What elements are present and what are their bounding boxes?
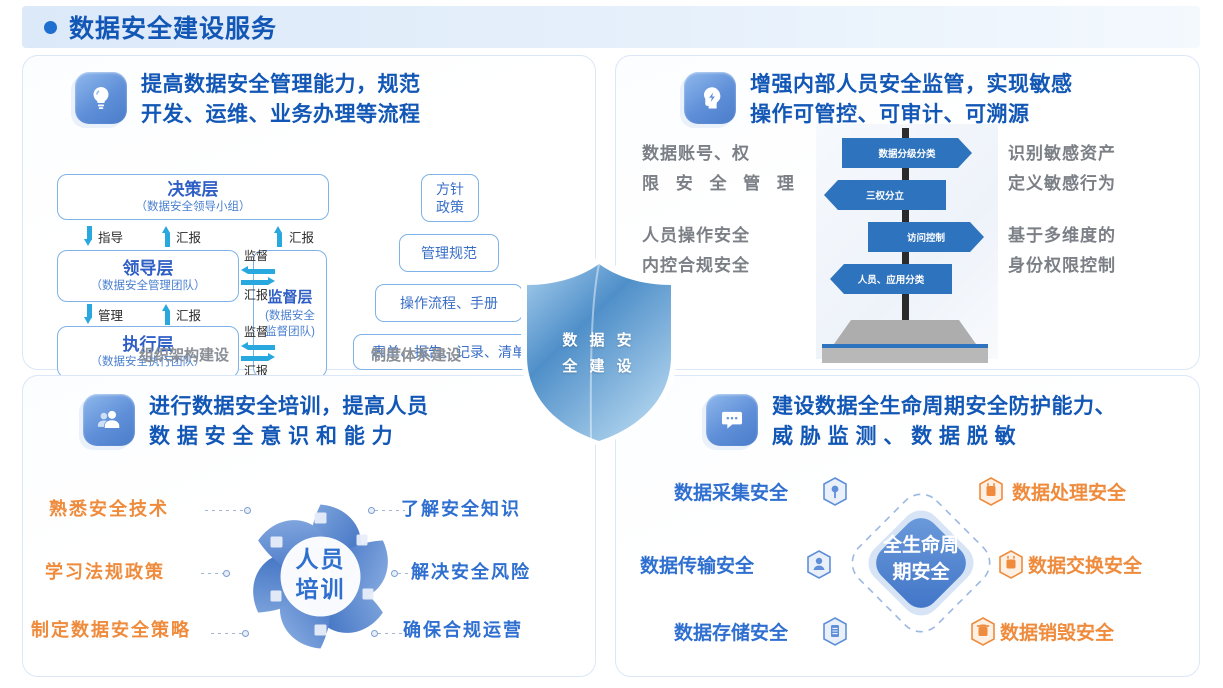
arrow-supervise-1-icon xyxy=(241,267,275,276)
shield-label: 数 据 安 全 建 设 xyxy=(508,328,690,380)
signpost-icon: 数据分级分类 三权分立 访问控制 人员、应用分类 xyxy=(816,124,998,359)
arrow-label-supervise-2: 监督 xyxy=(244,323,268,340)
tr-left-text-1-line2: 限 安 全 管 理 xyxy=(642,169,800,199)
training-item-left-3: 制定数据安全策略 xyxy=(31,619,191,641)
shield-line2: 全 建 设 xyxy=(508,354,690,380)
lightbulb-icon xyxy=(75,72,127,124)
connector-right-3 xyxy=(378,633,406,634)
hex-gear-icon xyxy=(978,477,1004,506)
sublabel-org-structure: 组织架构建设 xyxy=(139,344,229,365)
connector-dot-right-1 xyxy=(368,507,375,514)
tr-left-text-2-line1: 人员操作安全 xyxy=(642,221,750,251)
training-item-right-2: 解决安全风险 xyxy=(411,561,531,583)
page-header: 数据安全建设服务 xyxy=(22,6,1200,48)
sign-2: 三权分立 xyxy=(824,180,946,210)
signpost-base-top xyxy=(834,320,976,344)
shield-icon: 数 据 安 全 建 设 xyxy=(508,250,690,450)
connector-dot-right-2 xyxy=(391,570,398,577)
panel-br-title-line2: 威 胁 监 测 、 数 据 脱 敏 xyxy=(772,422,1116,452)
arrow-label-report-4: 汇报 xyxy=(244,286,268,303)
training-item-right-3: 确保合规运营 xyxy=(403,619,523,641)
hex-database-icon xyxy=(822,617,848,646)
sign-1: 数据分级分类 xyxy=(842,138,972,168)
org-box-decision-title: 决策层 xyxy=(168,180,219,200)
sublabel-system-framework: 制度体系建设 xyxy=(371,344,461,365)
tr-right-text-1: 识别敏感资产 定义敏感行为 xyxy=(1008,139,1116,199)
hex-user-icon xyxy=(806,550,832,579)
lifecycle-item-transfer-label: 数据传输安全 xyxy=(640,551,754,578)
org-box-decision-sub: （数据安全领导小组） xyxy=(136,200,251,215)
tr-right-text-2-line2: 身份权限控制 xyxy=(1008,251,1116,281)
connector-dot-left-3 xyxy=(242,630,249,637)
signpost-base-bottom xyxy=(822,348,988,363)
pinwheel-line1: 人员 xyxy=(238,544,403,574)
lifecycle-item-collect-label: 数据采集安全 xyxy=(674,478,788,505)
training-item-left-1: 熟悉安全技术 xyxy=(49,498,169,520)
head-lightning-icon xyxy=(684,72,736,124)
panel-tr-title-block: 增强内部人员安全监管，实现敏感 操作可管控、可审计、可溯源 xyxy=(750,70,1073,130)
arrow-label-manage: 管理 xyxy=(98,305,123,324)
sign-3: 访问控制 xyxy=(868,222,984,252)
arrow-supervise-2-icon xyxy=(241,343,275,352)
shield-line1: 数 据 安 xyxy=(508,328,690,354)
arrow-label-report-3: 汇报 xyxy=(176,305,201,324)
people-icon xyxy=(83,394,135,446)
panel-tl-title-line1: 提高数据安全管理能力，规范 xyxy=(141,70,421,100)
org-box-decision: 决策层 （数据安全领导小组） xyxy=(57,174,329,220)
arrow-label-supervise-1: 监督 xyxy=(244,247,268,264)
panel-internal-personnel-supervision: 增强内部人员安全监管，实现敏感 操作可管控、可审计、可溯源 数据账号、权 限 安… xyxy=(615,55,1200,370)
chat-bubble-icon xyxy=(706,394,758,446)
panel-bl-title-line2: 数 据 安 全 意 识 和 能 力 xyxy=(149,422,429,452)
tr-left-text-1-line1: 数据账号、权 xyxy=(642,139,800,169)
sign-1-label: 数据分级分类 xyxy=(842,138,972,168)
pyramid-level-1-label: 方针 政策 xyxy=(436,180,464,216)
pyramid-level-3: 操作流程、手册 xyxy=(375,284,523,322)
panel-br-header: 建设数据全生命周期安全防护能力、 威 胁 监 测 、 数 据 脱 敏 xyxy=(616,376,1199,452)
pyramid-level-2: 管理规范 xyxy=(399,234,499,272)
arrow-label-report-1: 汇报 xyxy=(176,227,201,246)
hex-location-icon xyxy=(822,477,848,506)
arrow-label-report-2: 汇报 xyxy=(289,227,314,246)
panel-br-title-block: 建设数据全生命周期安全防护能力、 威 胁 监 测 、 数 据 脱 敏 xyxy=(772,392,1116,452)
connector-left-1 xyxy=(205,510,245,511)
infographic-root: 数据安全建设服务 提高数据安全管理能力，规范 开发、运维、业务办理等流程 决策层 xyxy=(0,0,1223,688)
org-box-supervisor-sub2: 监督团队) xyxy=(265,324,315,340)
sign-4: 人员、应用分类 xyxy=(830,264,952,294)
sign-2-label: 三权分立 xyxy=(824,180,946,210)
pinwheel-center-label: 人员 培训 xyxy=(238,544,403,604)
lifecycle-item-exchange-label: 数据交换安全 xyxy=(1028,551,1142,578)
org-box-supervisor-sub1: (数据安全 xyxy=(265,308,315,324)
connector-left-3 xyxy=(211,633,243,634)
panel-tr-header: 增强内部人员安全监管，实现敏感 操作可管控、可审计、可溯源 xyxy=(616,56,1199,130)
lifecycle-center-line2: 期安全 xyxy=(836,559,1006,586)
tr-right-text-1-line1: 识别敏感资产 xyxy=(1008,139,1116,169)
panel-br-title-line1: 建设数据全生命周期安全防护能力、 xyxy=(772,392,1116,422)
pyramid-level-2-label: 管理规范 xyxy=(421,244,477,262)
pyramid-level-1: 方针 政策 xyxy=(421,174,479,222)
connector-dot-left-2 xyxy=(223,570,230,577)
connector-dot-right-3 xyxy=(371,630,378,637)
pinwheel-line2: 培训 xyxy=(238,574,403,604)
pyramid-level-3-label: 操作流程、手册 xyxy=(400,294,498,312)
org-box-leader: 领导层 （数据安全管理团队） xyxy=(57,250,239,302)
panel-tl-header: 提高数据安全管理能力，规范 开发、运维、业务办理等流程 xyxy=(23,56,595,130)
lifecycle-item-storage-label: 数据存储安全 xyxy=(674,618,788,645)
hex-trash-icon xyxy=(970,617,996,646)
sign-4-label: 人员、应用分类 xyxy=(830,264,952,294)
arrow-label-guide: 指导 xyxy=(98,227,123,246)
connector-dot-left-1 xyxy=(244,507,251,514)
sign-3-label: 访问控制 xyxy=(868,222,984,252)
tr-left-text-1: 数据账号、权 限 安 全 管 理 xyxy=(642,139,800,199)
connector-left-2 xyxy=(201,573,225,574)
bullet-dot-icon xyxy=(44,21,57,34)
pinwheel-icon: 人员 培训 xyxy=(238,494,403,659)
panel-tl-title-line2: 开发、运维、业务办理等流程 xyxy=(141,100,421,130)
tr-right-text-1-line2: 定义敏感行为 xyxy=(1008,169,1116,199)
panel-tl-title-block: 提高数据安全管理能力，规范 开发、运维、业务办理等流程 xyxy=(141,70,421,130)
org-box-supervisor-title: 监督层 xyxy=(267,288,312,308)
org-box-leader-title: 领导层 xyxy=(123,259,174,279)
training-item-left-2: 学习法规政策 xyxy=(45,561,165,583)
training-item-right-1: 了解安全知识 xyxy=(401,498,521,520)
panel-bl-title-line1: 进行数据安全培训，提高人员 xyxy=(149,392,429,422)
tr-right-text-2: 基于多维度的 身份权限控制 xyxy=(1008,221,1116,281)
panel-tr-title-line1: 增强内部人员安全监管，实现敏感 xyxy=(750,70,1073,100)
lifecycle-item-process-label: 数据处理安全 xyxy=(1012,478,1126,505)
panel-bl-title-block: 进行数据安全培训，提高人员 数 据 安 全 意 识 和 能 力 xyxy=(149,392,429,452)
tr-right-text-2-line1: 基于多维度的 xyxy=(1008,221,1116,251)
page-title: 数据安全建设服务 xyxy=(69,9,277,45)
org-box-leader-sub: （数据安全管理团队） xyxy=(91,279,206,294)
lifecycle-center-label: 全生命周 期安全 xyxy=(836,532,1006,586)
lifecycle-item-destroy-label: 数据销毁安全 xyxy=(1000,618,1114,645)
lifecycle-center-line1: 全生命周 xyxy=(836,532,1006,559)
